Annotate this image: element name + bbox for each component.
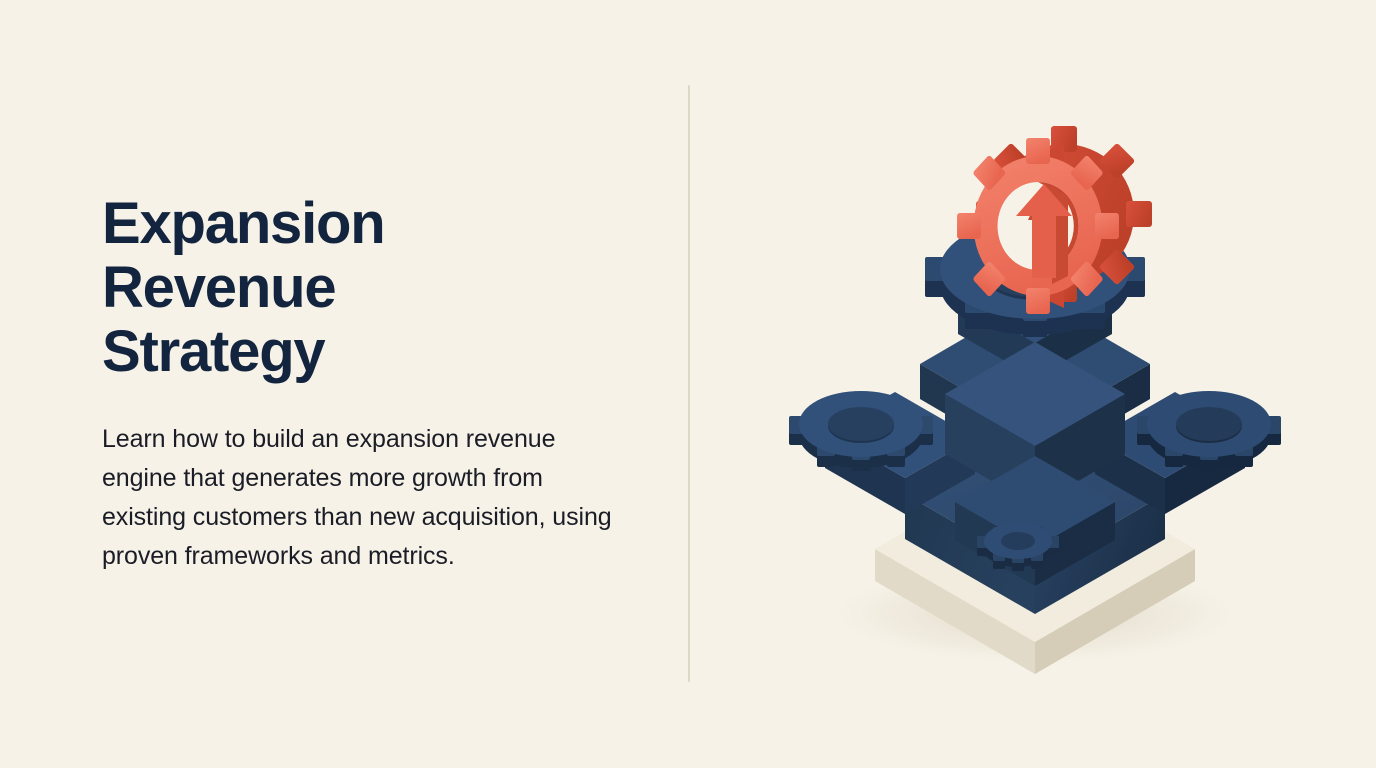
illustration-column xyxy=(690,0,1376,768)
gear-platform-illustration xyxy=(753,94,1313,674)
page-subtitle: Learn how to build an expansion revenue … xyxy=(102,420,617,576)
text-column: Expansion Revenue Strategy Learn how to … xyxy=(102,0,642,768)
slide-root: Expansion Revenue Strategy Learn how to … xyxy=(0,0,1376,768)
isometric-scene-svg xyxy=(753,94,1313,674)
page-title: Expansion Revenue Strategy xyxy=(102,192,385,383)
